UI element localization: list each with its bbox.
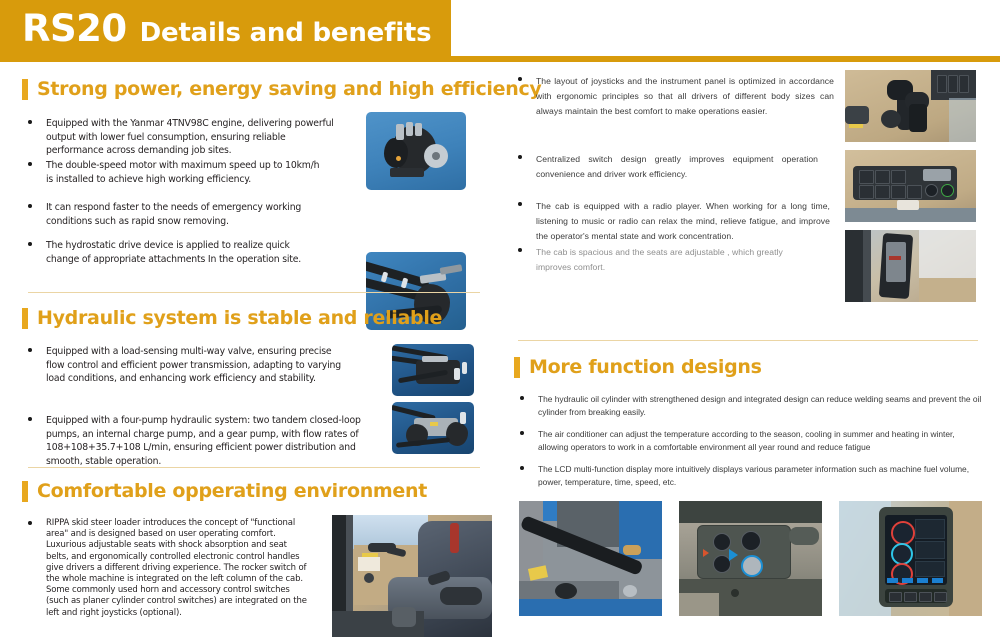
- brand-model-label: RS20: [22, 7, 127, 50]
- list-item-text: The hydrostatic drive device is applied …: [46, 239, 320, 266]
- right-column: The layout of joysticks and the instrume…: [500, 62, 1000, 643]
- multi-way-valve-photo: [392, 344, 474, 396]
- engine-photo: [366, 112, 466, 190]
- heading-accent-bar: [22, 308, 28, 329]
- bullet-dot: [28, 162, 32, 166]
- bullet-dot: [520, 431, 524, 435]
- list-item-text: Equipped with the Yanmar 4TNV98C engine,…: [46, 117, 338, 158]
- bullet-dot: [28, 242, 32, 246]
- list-item: Centralized switch design greatly improv…: [518, 152, 818, 182]
- bullet-dot: [518, 77, 522, 81]
- section-divider: [518, 340, 978, 341]
- list-item-text: Centralized switch design greatly improv…: [536, 152, 818, 182]
- left-column: Strong power, energy saving and high eff…: [0, 62, 500, 643]
- radio-player-photo: [845, 230, 976, 302]
- section-title: Hydraulic system is stable and reliable: [37, 307, 442, 329]
- section-title: Comfortable opperating environment: [37, 480, 427, 502]
- section-heading-strong-power: Strong power, energy saving and high eff…: [22, 78, 542, 100]
- list-item-text: The cab is equipped with a radio player.…: [536, 199, 830, 244]
- four-pump-system-photo: [392, 402, 474, 454]
- bullet-dot: [28, 204, 32, 208]
- section-title: Strong power, energy saving and high eff…: [37, 78, 542, 100]
- list-item-text: Equipped with a four-pump hydraulic syst…: [46, 414, 364, 468]
- section-divider: [28, 292, 480, 293]
- list-item: The cab is equipped with a radio player.…: [518, 199, 830, 244]
- section-heading-hydraulic: Hydraulic system is stable and reliable: [22, 307, 442, 329]
- section-divider: [28, 467, 480, 468]
- list-item: Equipped with a load-sensing multi-way v…: [28, 345, 342, 386]
- list-item-text: The LCD multi-function display more intu…: [538, 463, 986, 489]
- list-item-text: The cab is spacious and the seats are ad…: [536, 245, 818, 275]
- bullet-dot: [518, 155, 522, 159]
- list-item: The double-speed motor with maximum spee…: [28, 159, 328, 186]
- list-item-text: The double-speed motor with maximum spee…: [46, 159, 328, 186]
- heading-accent-bar: [22, 79, 28, 100]
- section-heading-more-functions: More function designs: [514, 356, 762, 378]
- bullet-dot: [520, 466, 524, 470]
- list-item: Equipped with a four-pump hydraulic syst…: [28, 414, 364, 468]
- list-item: The LCD multi-function display more intu…: [520, 463, 986, 489]
- cab-interior-photo: [332, 515, 492, 637]
- heading-accent-bar: [22, 481, 28, 502]
- bullet-dot: [28, 521, 32, 525]
- lcd-display-photo: [839, 501, 982, 616]
- list-item: The cab is spacious and the seats are ad…: [518, 245, 818, 275]
- switch-panel-photo: [845, 150, 976, 222]
- air-conditioner-panel-photo: [679, 501, 822, 616]
- list-item: The hydrostatic drive device is applied …: [28, 239, 320, 266]
- list-item: Equipped with the Yanmar 4TNV98C engine,…: [28, 117, 338, 158]
- list-item: RIPPA skid steer loader introduces the c…: [28, 518, 310, 619]
- joystick-photo: [845, 70, 976, 142]
- page-subtitle: Details and benefits: [140, 18, 432, 48]
- list-item-text: The air conditioner can adjust the tempe…: [538, 428, 986, 454]
- section-title: More function designs: [529, 356, 762, 378]
- list-item: The air conditioner can adjust the tempe…: [520, 428, 986, 454]
- list-item-text: The layout of joysticks and the instrume…: [536, 74, 834, 119]
- bullet-dot: [28, 348, 32, 352]
- bullet-dot: [28, 417, 32, 421]
- bullet-dot: [518, 248, 522, 252]
- bullet-dot: [518, 202, 522, 206]
- list-item-text: Equipped with a load-sensing multi-way v…: [46, 345, 342, 386]
- heading-accent-bar: [514, 357, 520, 378]
- bullet-dot: [28, 120, 32, 124]
- section-heading-comfortable: Comfortable opperating environment: [22, 480, 427, 502]
- list-item-text: It can respond faster to the needs of em…: [46, 201, 313, 228]
- list-item: The layout of joysticks and the instrume…: [518, 74, 834, 119]
- list-item-text: RIPPA skid steer loader introduces the c…: [46, 518, 310, 619]
- list-item: It can respond faster to the needs of em…: [28, 201, 313, 228]
- page-title: RS20Details and benefits: [22, 7, 431, 59]
- list-item: The hydraulic oil cylinder with strength…: [520, 393, 986, 419]
- bullet-dot: [520, 396, 524, 400]
- list-item-text: The hydraulic oil cylinder with strength…: [538, 393, 986, 419]
- oil-cylinder-photo: [519, 501, 662, 616]
- page-header: RS20Details and benefits: [0, 0, 1000, 62]
